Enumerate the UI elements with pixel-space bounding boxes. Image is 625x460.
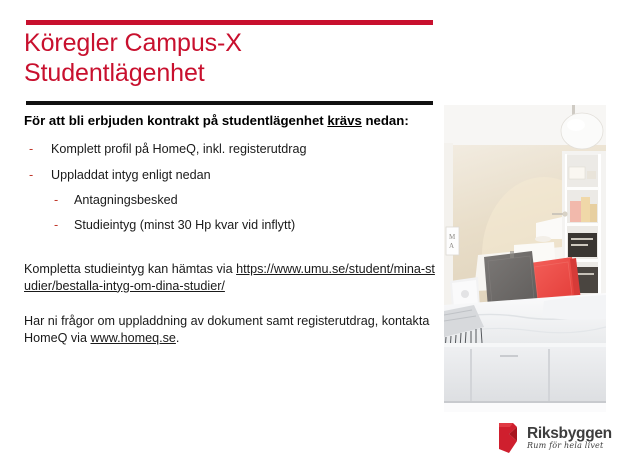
bullet-dash-icon: - xyxy=(29,141,33,157)
certificate-paragraph-text: Kompletta studieintyg kan hämtas via xyxy=(24,262,236,276)
certificate-paragraph: Kompletta studieintyg kan hämtas via htt… xyxy=(24,261,436,294)
page-title: Köregler Campus-X Studentlägenhet xyxy=(24,28,434,88)
list-item: - Uppladdat intyg enligt nedan - Antagni… xyxy=(24,167,436,233)
bullet-dash-icon: - xyxy=(54,192,58,208)
riksbyggen-logo-text: Riksbyggen Rum för hela livet xyxy=(527,426,612,451)
bullet-dash-icon: - xyxy=(29,167,33,183)
list-item: - Komplett profil på HomeQ, inkl. regist… xyxy=(24,141,436,157)
riksbyggen-mark-icon xyxy=(497,422,521,454)
contact-paragraph: Har ni frågor om uppladdning av dokument… xyxy=(24,313,436,346)
requirements-list: - Komplett profil på HomeQ, inkl. regist… xyxy=(24,141,436,233)
page-title-line-2: Studentlägenhet xyxy=(24,58,434,88)
svg-text:M: M xyxy=(449,233,456,241)
riksbyggen-logo: Riksbyggen Rum för hela livet xyxy=(497,421,615,455)
contact-paragraph-after: . xyxy=(176,331,180,345)
list-item-label: Uppladdat intyg enligt nedan xyxy=(51,168,211,182)
apartment-photo: M A xyxy=(444,105,606,412)
requirements-heading: För att bli erbjuden kontrakt på student… xyxy=(24,112,436,129)
requirements-heading-before: För att bli erbjuden kontrakt på student… xyxy=(24,113,327,128)
requirements-sublist: - Antagningsbesked - Studieintyg (minst … xyxy=(51,192,436,233)
contact-paragraph-before: Har ni frågor om uppladdning av dokument… xyxy=(24,314,429,345)
bullet-dash-icon: - xyxy=(54,217,58,233)
header-divider-rule xyxy=(26,101,433,105)
riksbyggen-tagline: Rum för hela livet xyxy=(527,442,612,450)
list-item-label: Studieintyg (minst 30 Hp kvar vid inflyt… xyxy=(74,218,295,232)
requirements-heading-after: nedan: xyxy=(362,113,409,128)
content-body: För att bli erbjuden kontrakt på student… xyxy=(24,112,436,346)
svg-text:A: A xyxy=(449,242,454,250)
homeq-link[interactable]: www.homeq.se xyxy=(91,331,176,345)
list-item: - Studieintyg (minst 30 Hp kvar vid infl… xyxy=(51,217,436,233)
page-title-line-1: Köregler Campus-X xyxy=(24,28,434,58)
list-item-label: Antagningsbesked xyxy=(74,193,178,207)
list-item: - Antagningsbesked xyxy=(51,192,436,208)
requirements-heading-emphasis: krävs xyxy=(327,113,361,128)
riksbyggen-wordmark: Riksbyggen xyxy=(527,426,612,442)
title-accent-rule xyxy=(26,20,433,25)
list-item-label: Komplett profil på HomeQ, inkl. register… xyxy=(51,142,307,156)
